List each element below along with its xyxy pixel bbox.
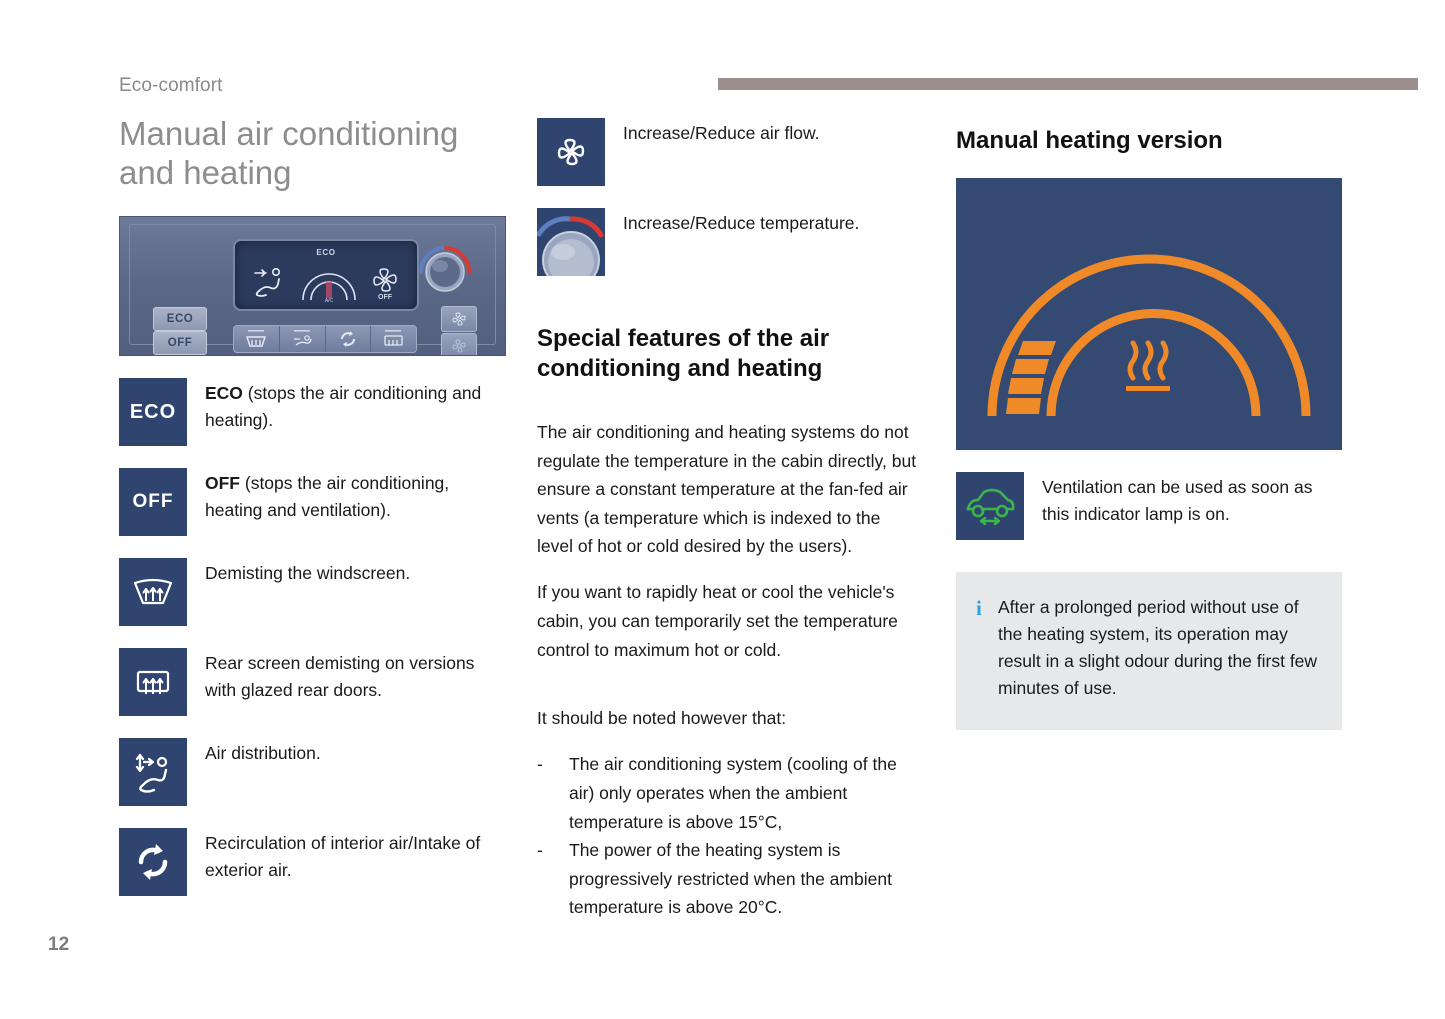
special-features-paragraph-2: If you want to rapidly heat or cool the … xyxy=(537,578,917,664)
vehicle-ventilation-icon xyxy=(962,483,1018,529)
manual-page: Eco-comfort 12 Manual air conditioning a… xyxy=(0,0,1445,1019)
legend-text-airflow: Increase/Reduce air flow. xyxy=(623,118,820,147)
legend-row-airflow: Increase/Reduce air flow. xyxy=(537,118,917,186)
bullet-text: The power of the heating system is progr… xyxy=(569,836,917,922)
recirculation-tile xyxy=(119,828,187,896)
eco-tile-icon: ECO xyxy=(119,378,187,446)
control-panel-body: ECO A/C xyxy=(129,224,496,345)
fan-increase-icon xyxy=(442,307,476,331)
note-bullet-list: - The air conditioning system (cooling o… xyxy=(537,750,917,922)
legend-off-rest: (stops the air conditioning, heating and… xyxy=(205,473,449,520)
section-eyebrow: Eco-comfort xyxy=(119,75,223,97)
legend-row-recirculation: Recirculation of interior air/Intake of … xyxy=(119,828,509,896)
heating-arcs-illustration xyxy=(956,178,1342,450)
special-features-heading: Special features of the air conditioning… xyxy=(537,324,917,384)
page-number: 12 xyxy=(48,934,69,956)
info-icon: i xyxy=(976,596,982,621)
svg-text:OFF: OFF xyxy=(378,294,393,301)
control-panel-image: ECO A/C xyxy=(119,216,506,356)
rear-screen-demist-tile xyxy=(119,648,187,716)
temperature-knob[interactable] xyxy=(413,238,477,302)
right-column: Manual heating version xyxy=(956,110,1342,730)
note-intro: It should be noted however that: xyxy=(537,704,917,733)
vehicle-ventilation-tile xyxy=(956,472,1024,540)
info-note-text: After a prolonged period without use of … xyxy=(998,594,1320,702)
temperature-knob-icon xyxy=(537,208,605,276)
air-distribution-icon xyxy=(129,749,177,795)
panel-recirculation-button[interactable] xyxy=(326,326,372,352)
legend-text-rear-demist: Rear screen demisting on versions with g… xyxy=(205,648,505,704)
rear-screen-demist-icon xyxy=(371,326,415,352)
fan-airflow-icon xyxy=(549,130,593,174)
panel-fan-increase-button[interactable] xyxy=(441,306,477,332)
legend-row-rear-demist: Rear screen demisting on versions with g… xyxy=(119,648,509,716)
middle-column: Increase/Reduce air flow. Increase/Reduc… xyxy=(537,110,917,922)
bullet-dash: - xyxy=(537,750,569,836)
legend-row-air-distribution: Air distribution. xyxy=(119,738,509,806)
display-fan-icon: OFF xyxy=(365,261,405,301)
legend-row-temperature: Increase/Reduce temperature. xyxy=(537,208,917,276)
manual-heating-heading: Manual heating version xyxy=(956,126,1342,156)
manual-heating-image xyxy=(956,178,1342,450)
windscreen-demist-icon xyxy=(130,570,176,614)
eco-tile-text: ECO xyxy=(130,401,176,424)
panel-windscreen-demist-button[interactable] xyxy=(234,326,280,352)
panel-fan-decrease-button[interactable] xyxy=(441,333,477,356)
legend-row-eco: ECO ECO (stops the air conditioning and … xyxy=(119,378,509,446)
recirculation-icon xyxy=(326,326,370,352)
note-bullet-item: - The air conditioning system (cooling o… xyxy=(537,750,917,836)
left-column: Manual air conditioning and heating ECO xyxy=(119,110,509,896)
panel-off-button[interactable]: OFF xyxy=(153,331,207,355)
legend-text-air-distribution: Air distribution. xyxy=(205,738,321,767)
page-title: Manual air conditioning and heating xyxy=(119,114,509,192)
legend-text-temperature: Increase/Reduce temperature. xyxy=(623,208,859,237)
ventilation-legend-row: Ventilation can be used as soon as this … xyxy=(956,472,1342,540)
air-distribution-tile xyxy=(119,738,187,806)
legend-eco-bold: ECO xyxy=(205,383,243,403)
off-tile-icon: OFF xyxy=(119,468,187,536)
legend-row-windscreen-demist: Demisting the windscreen. xyxy=(119,558,509,626)
legend-text-eco: ECO (stops the air conditioning and heat… xyxy=(205,378,505,434)
control-panel-display: ECO A/C xyxy=(233,239,419,311)
display-eco-label: ECO xyxy=(235,248,417,257)
windscreen-demist-tile xyxy=(119,558,187,626)
panel-button-row xyxy=(233,325,417,353)
legend-text-windscreen-demist: Demisting the windscreen. xyxy=(205,558,410,587)
legend-text-recirculation: Recirculation of interior air/Intake of … xyxy=(205,828,505,884)
fan-decrease-icon xyxy=(442,334,476,356)
air-distribution-icon xyxy=(280,326,324,352)
special-features-paragraph-1: The air conditioning and heating systems… xyxy=(537,418,917,561)
info-note-box: i After a prolonged period without use o… xyxy=(956,572,1342,730)
legend-eco-rest: (stops the air conditioning and heating)… xyxy=(205,383,481,430)
off-tile-text: OFF xyxy=(133,491,174,513)
display-air-distribution-icon xyxy=(249,263,291,299)
panel-rear-demist-button[interactable] xyxy=(371,326,416,352)
header-rule xyxy=(718,78,1418,90)
svg-text:A/C: A/C xyxy=(325,298,334,304)
fan-airflow-tile xyxy=(537,118,605,186)
display-temperature-arc-icon: A/C xyxy=(297,258,361,304)
windscreen-demist-icon xyxy=(234,326,278,352)
temperature-knob-tile xyxy=(537,208,605,276)
bullet-text: The air conditioning system (cooling of … xyxy=(569,750,917,836)
panel-eco-button[interactable]: ECO xyxy=(153,307,207,331)
panel-air-distribution-button[interactable] xyxy=(280,326,326,352)
recirculation-icon xyxy=(131,840,175,884)
bullet-dash: - xyxy=(537,836,569,922)
legend-off-bold: OFF xyxy=(205,473,240,493)
legend-row-off: OFF OFF (stops the air conditioning, hea… xyxy=(119,468,509,536)
legend-text-off: OFF (stops the air conditioning, heating… xyxy=(205,468,505,524)
ventilation-legend-text: Ventilation can be used as soon as this … xyxy=(1042,472,1342,528)
rear-screen-demist-icon xyxy=(130,660,176,704)
note-bullet-item: - The power of the heating system is pro… xyxy=(537,836,917,922)
